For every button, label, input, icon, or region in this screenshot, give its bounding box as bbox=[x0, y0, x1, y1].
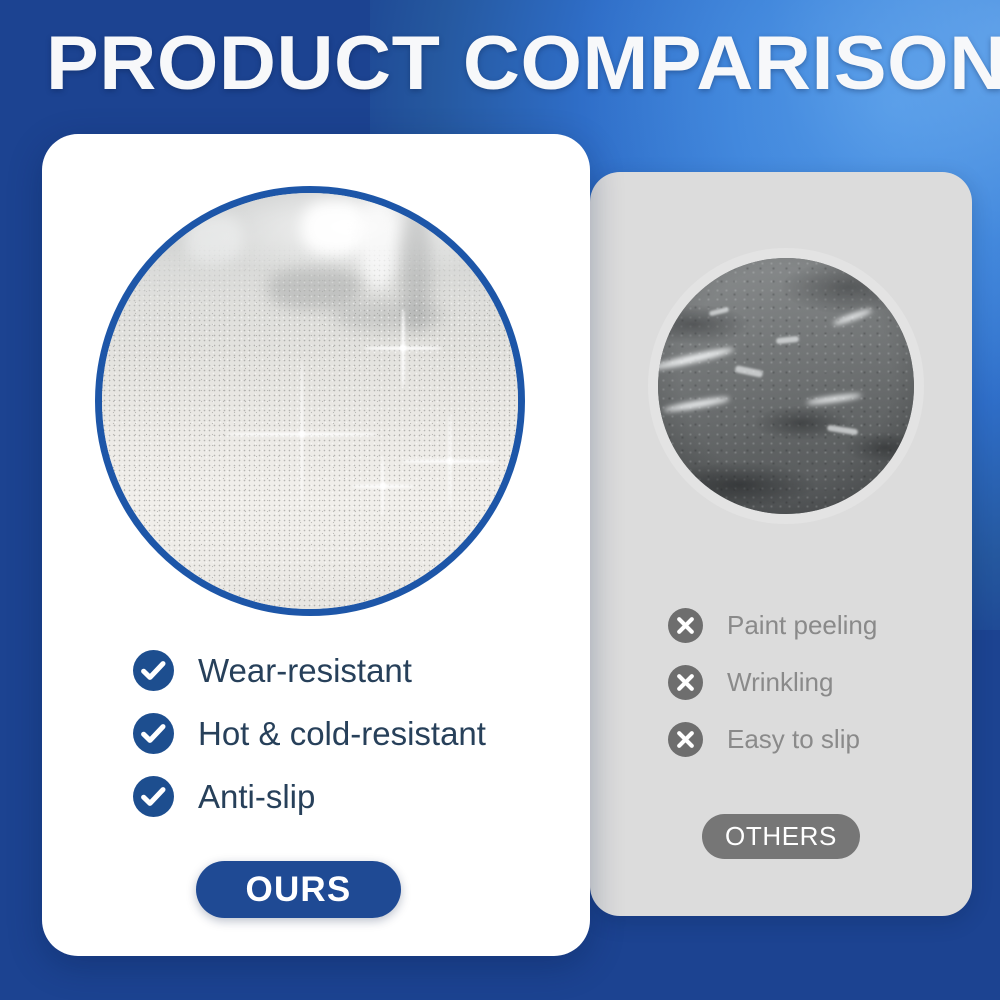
check-circle-icon bbox=[133, 713, 174, 754]
list-item-label: Wrinkling bbox=[727, 667, 833, 698]
list-item-label: Paint peeling bbox=[727, 610, 877, 641]
x-circle-icon bbox=[668, 722, 703, 757]
page-title: PRODUCT COMPARISON bbox=[46, 22, 1000, 106]
check-circle-icon bbox=[133, 776, 174, 817]
list-item-label: Hot & cold-resistant bbox=[198, 715, 486, 753]
sparkle-icon bbox=[364, 309, 442, 387]
others-badge: OTHERS bbox=[702, 814, 860, 859]
list-item: Anti-slip bbox=[133, 776, 486, 817]
ours-badge: OURS bbox=[196, 861, 401, 918]
ours-feature-list: Wear-resistant Hot & cold-resistant Anti… bbox=[133, 650, 486, 839]
product-comparison-infographic: PRODUCT COMPARISON bbox=[0, 0, 1000, 1000]
list-item: Wrinkling bbox=[668, 665, 877, 700]
list-item: Wear-resistant bbox=[133, 650, 486, 691]
list-item: Hot & cold-resistant bbox=[133, 713, 486, 754]
x-circle-icon bbox=[668, 665, 703, 700]
ours-product-image bbox=[95, 186, 525, 616]
list-item-label: Anti-slip bbox=[198, 778, 315, 816]
list-item: Easy to slip bbox=[668, 722, 877, 757]
sparkle-icon bbox=[352, 455, 414, 517]
list-item: Paint peeling bbox=[668, 608, 877, 643]
vignette-overlay bbox=[658, 258, 914, 514]
check-circle-icon bbox=[133, 650, 174, 691]
others-product-image bbox=[658, 258, 914, 514]
list-item-label: Easy to slip bbox=[727, 724, 860, 755]
sparkle-icon bbox=[402, 413, 498, 509]
list-item-label: Wear-resistant bbox=[198, 652, 412, 690]
others-feature-list: Paint peeling Wrinkling Easy to slip bbox=[668, 608, 877, 779]
x-circle-icon bbox=[668, 608, 703, 643]
